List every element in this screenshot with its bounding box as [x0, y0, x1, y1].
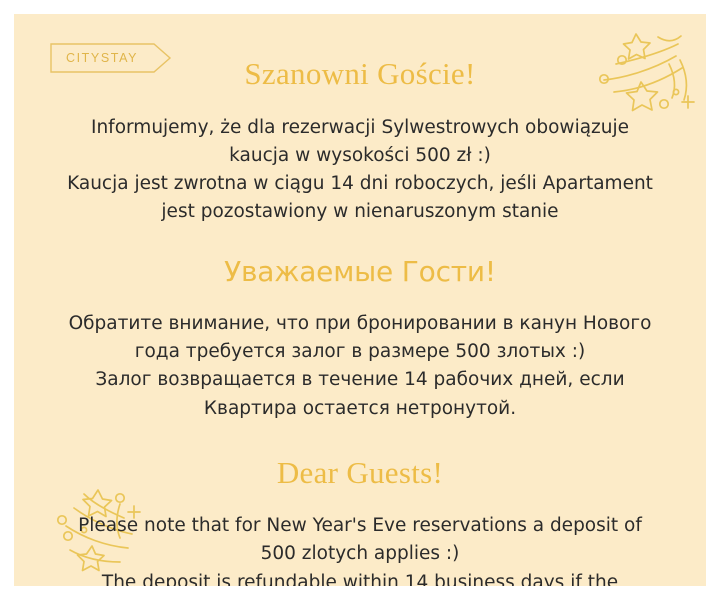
body-line: Залог возвращается в течение 14 рабочих … [60, 366, 660, 394]
announcement-card: CITYSTAY [14, 14, 706, 586]
section-english: Dear Guests! Please note that for New Ye… [14, 455, 706, 586]
body-english: Please note that for New Year's Eve rese… [14, 512, 706, 586]
body-line: Обратите внимание, что при бронировании … [60, 310, 660, 338]
body-line: Informujemy, że dla rezerwacji Sylwestro… [60, 114, 660, 142]
section-polish: Szanowni Goście! Informujemy, że dla rez… [14, 56, 706, 226]
body-line: 500 zlotych applies :) [60, 540, 660, 568]
heading-russian: Уважаемые Гости! [14, 256, 706, 288]
body-line: The deposit is refundable within 14 busi… [60, 569, 660, 586]
heading-polish: Szanowni Goście! [14, 56, 706, 92]
section-russian: Уважаемые Гости! Обратите внимание, что … [14, 256, 706, 423]
body-line: kaucja w wysokości 500 zł :) [60, 142, 660, 170]
announcement-content: Szanowni Goście! Informujemy, że dla rez… [14, 14, 706, 586]
body-russian: Обратите внимание, что при бронировании … [14, 310, 706, 422]
body-line: Please note that for New Year's Eve rese… [60, 512, 660, 540]
body-line: jest pozostawiony w nienaruszonym stanie [60, 198, 660, 226]
body-polish: Informujemy, że dla rezerwacji Sylwestro… [14, 114, 706, 226]
body-line: Kaucja jest zwrotna w ciągu 14 dni roboc… [60, 170, 660, 198]
body-line: Квартира остается нетронутой. [60, 395, 660, 423]
body-line: года требуется залог в размере 500 злоты… [60, 338, 660, 366]
heading-english: Dear Guests! [14, 455, 706, 491]
